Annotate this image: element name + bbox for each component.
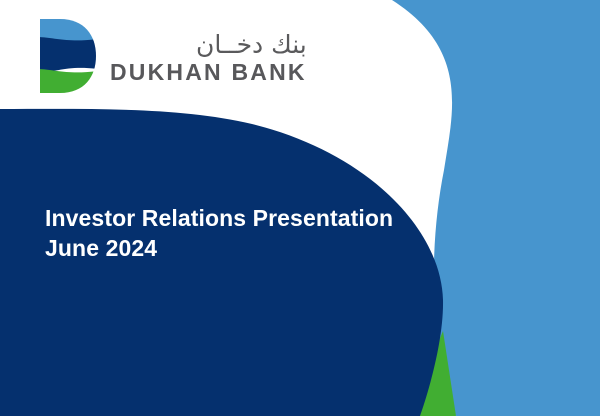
brand-wordmark-arabic: بنك دخــان [110, 32, 307, 58]
brand-wordmark: بنك دخــان DUKHAN BANK [110, 28, 307, 84]
presentation-title-slide: بنك دخــان DUKHAN BANK Investor Relation… [0, 0, 600, 416]
monogram-band-navy [36, 37, 98, 73]
slide-title-line-1: Investor Relations Presentation [45, 203, 393, 233]
slide-title-block: Investor Relations Presentation June 202… [45, 203, 393, 263]
brand-logo-lockup: بنك دخــان DUKHAN BANK [36, 16, 307, 96]
slide-title-line-2: June 2024 [45, 233, 393, 263]
brand-wordmark-latin: DUKHAN BANK [110, 60, 307, 84]
monogram-band-green [36, 69, 98, 95]
dukhan-bank-d-monogram-icon [36, 17, 98, 95]
